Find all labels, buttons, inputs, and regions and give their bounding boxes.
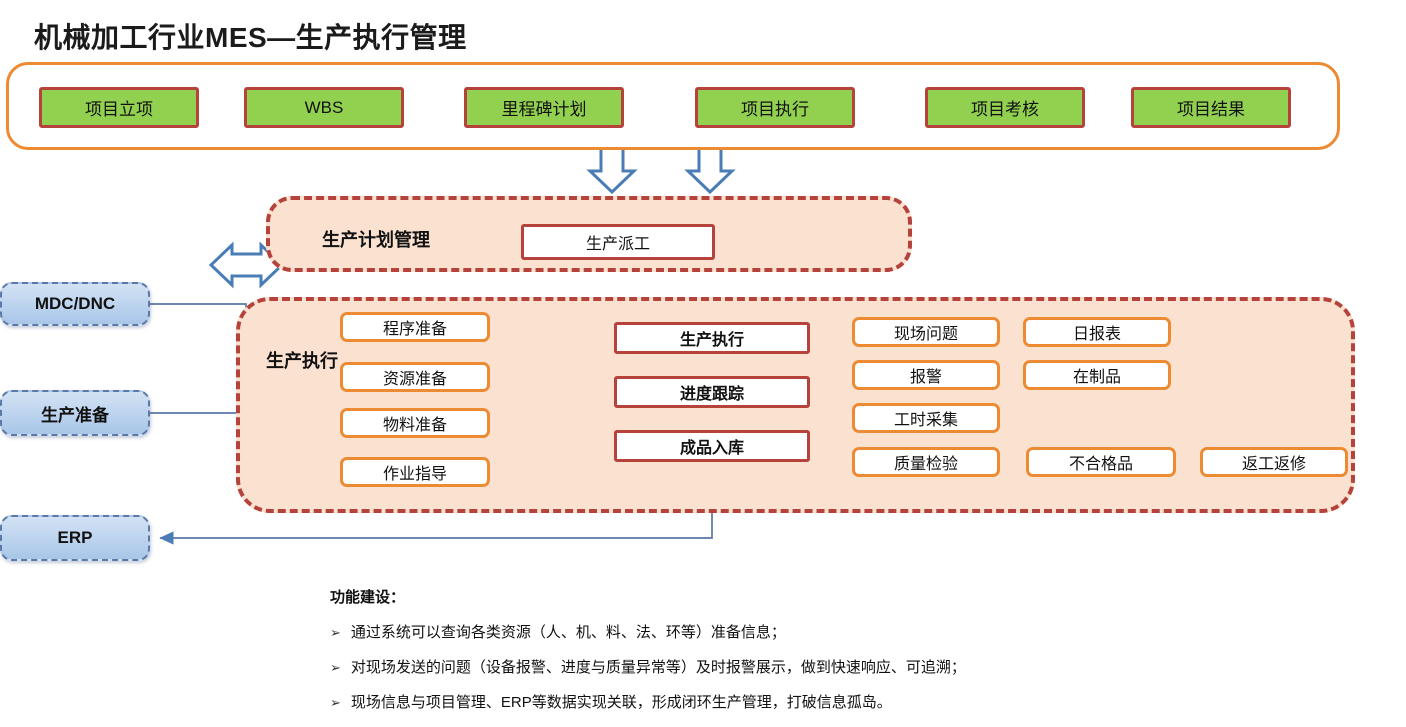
node-alarm[interactable]: 报警 <box>852 360 1000 390</box>
node-site-issue[interactable]: 现场问题 <box>852 317 1000 347</box>
down-block-arrow-2 <box>688 145 732 192</box>
bullet-arrow-icon-1: ➢ <box>330 660 341 676</box>
production-plan-title: 生产计划管理 <box>322 226 430 252</box>
page-title: 机械加工行业MES—生产执行管理 <box>34 16 467 56</box>
production-execution-title: 生产执行 <box>266 347 338 373</box>
footer-heading: 功能建设： <box>330 586 405 607</box>
node-nonconforming-product[interactable]: 不合格品 <box>1026 447 1176 477</box>
phase-chip-1[interactable]: WBS <box>244 87 404 128</box>
footer-bullet-text-0: 通过系统可以查询各类资源（人、机、料、法、环等）准备信息； <box>351 621 786 642</box>
footer-bullet-text-1: 对现场发送的问题（设备报警、进度与质量异常等）及时报警展示，做到快速响应、可追溯… <box>351 656 966 677</box>
down-block-arrow-1 <box>590 145 634 192</box>
node-material-prep[interactable]: 物料准备 <box>340 408 490 438</box>
side-box-erp[interactable]: ERP <box>0 515 150 561</box>
node-resource-prep[interactable]: 资源准备 <box>340 362 490 392</box>
node-finished-goods-inbound[interactable]: 成品入库 <box>614 430 810 462</box>
node-wip[interactable]: 在制品 <box>1023 360 1171 390</box>
footer-bullet-2: ➢ 现场信息与项目管理、ERP等数据实现关联，形成闭环生产管理，打破信息孤岛。 <box>330 691 892 712</box>
bullet-arrow-icon-2: ➢ <box>330 695 341 711</box>
diagram-canvas: 机械加工行业MES—生产执行管理 项目立项 WBS 里程碑计划 项目执行 项目考… <box>0 0 1406 727</box>
side-box-production-prep[interactable]: 生产准备 <box>0 390 150 436</box>
footer-bullet-text-2: 现场信息与项目管理、ERP等数据实现关联，形成闭环生产管理，打破信息孤岛。 <box>351 691 892 712</box>
node-labor-hour-collection[interactable]: 工时采集 <box>852 403 1000 433</box>
node-program-prep[interactable]: 程序准备 <box>340 312 490 342</box>
phase-chip-5[interactable]: 项目结果 <box>1131 87 1291 128</box>
node-daily-report[interactable]: 日报表 <box>1023 317 1171 347</box>
node-rework-repair[interactable]: 返工返修 <box>1200 447 1348 477</box>
node-production-execution[interactable]: 生产执行 <box>614 322 810 354</box>
phase-chip-4[interactable]: 项目考核 <box>925 87 1085 128</box>
footer-bullet-0: ➢ 通过系统可以查询各类资源（人、机、料、法、环等）准备信息； <box>330 621 786 642</box>
phase-chip-0[interactable]: 项目立项 <box>39 87 199 128</box>
node-production-dispatch[interactable]: 生产派工 <box>521 224 715 260</box>
bullet-arrow-icon-0: ➢ <box>330 625 341 641</box>
phase-chip-2[interactable]: 里程碑计划 <box>464 87 624 128</box>
node-quality-inspection[interactable]: 质量检验 <box>852 447 1000 477</box>
node-progress-tracking[interactable]: 进度跟踪 <box>614 376 810 408</box>
side-box-mdc-dnc[interactable]: MDC/DNC <box>0 282 150 326</box>
node-work-instruction[interactable]: 作业指导 <box>340 457 490 487</box>
phase-chip-3[interactable]: 项目执行 <box>695 87 855 128</box>
footer-bullet-1: ➢ 对现场发送的问题（设备报警、进度与质量异常等）及时报警展示，做到快速响应、可… <box>330 656 966 677</box>
